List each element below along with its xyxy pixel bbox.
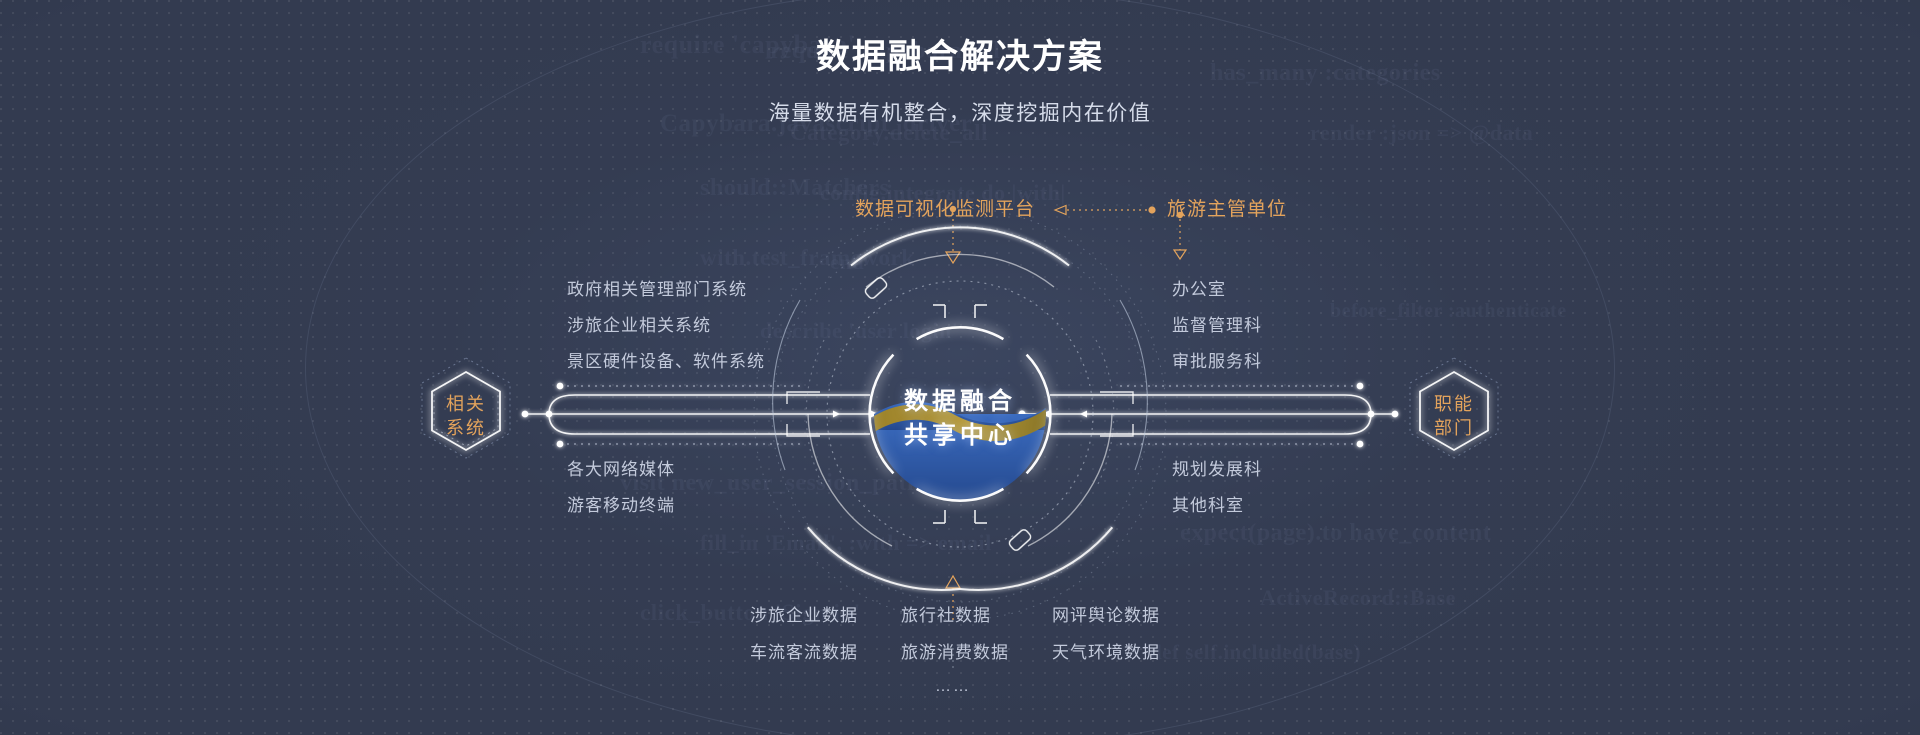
- right-lower-item-0[interactable]: 规划发展科: [1172, 461, 1262, 478]
- right-upper-item-1[interactable]: 监督管理科: [1172, 317, 1262, 334]
- left-lower-item-1[interactable]: 游客移动终端: [567, 497, 675, 514]
- center-core-label: 数据融合 共享中心: [830, 385, 1090, 452]
- top-left-node-label[interactable]: 数据可视化监测平台: [855, 200, 1035, 219]
- right-hexagon-label-line1: 职能: [1394, 392, 1514, 416]
- right-hexagon-label: 职能 部门: [1394, 392, 1514, 441]
- left-hexagon-label-line1: 相关: [406, 392, 526, 416]
- bottom-item-0-1[interactable]: 旅行社数据: [901, 607, 991, 624]
- left-upper-item-1[interactable]: 涉旅企业相关系统: [567, 317, 711, 334]
- bottom-item-1-1[interactable]: 旅游消费数据: [901, 644, 1009, 661]
- bottom-item-0-2[interactable]: 网评舆论数据: [1052, 607, 1160, 624]
- left-upper-item-0[interactable]: 政府相关管理部门系统: [567, 281, 747, 298]
- left-lower-item-0[interactable]: 各大网络媒体: [567, 461, 675, 478]
- right-upper-item-2[interactable]: 审批服务科: [1172, 353, 1262, 370]
- infographic-canvas: require 'capybara'require 'capybara/dsl'…: [0, 0, 1920, 735]
- center-core-label-line2: 共享中心: [830, 419, 1090, 453]
- top-right-node-label[interactable]: 旅游主管单位: [1167, 200, 1287, 219]
- left-hexagon-label: 相关 系统: [406, 392, 526, 441]
- right-hexagon-label-line2: 部门: [1394, 416, 1514, 440]
- right-upper-item-0[interactable]: 办公室: [1172, 281, 1226, 298]
- bottom-ellipsis: ……: [893, 678, 1013, 696]
- bottom-item-1-2[interactable]: 天气环境数据: [1052, 644, 1160, 661]
- left-hexagon-label-line2: 系统: [406, 416, 526, 440]
- left-upper-item-2[interactable]: 景区硬件设备、软件系统: [567, 353, 765, 370]
- center-core-label-line1: 数据融合: [830, 385, 1090, 419]
- bottom-item-0-0[interactable]: 涉旅企业数据: [750, 607, 858, 624]
- right-lower-item-1[interactable]: 其他科室: [1172, 497, 1244, 514]
- bottom-item-1-0[interactable]: 车流客流数据: [750, 644, 858, 661]
